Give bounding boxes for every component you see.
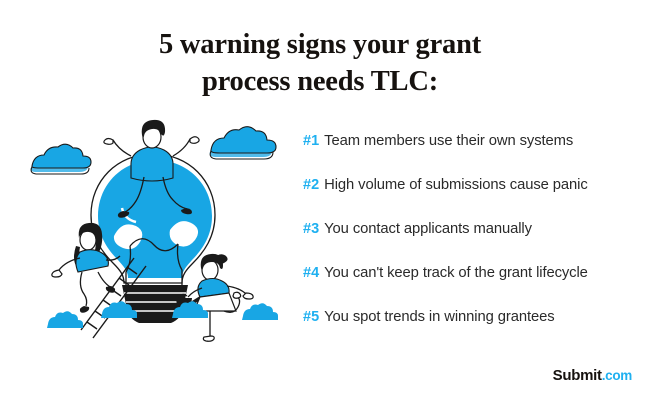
bush-right-icon (242, 303, 278, 320)
list-item: #5 You spot trends in winning grantees (303, 307, 643, 351)
list-item-number: #3 (303, 219, 319, 239)
list-item: #4 You can't keep track of the grant lif… (303, 263, 643, 307)
logo-wordmark: Submit (553, 367, 602, 384)
list-item: #1 Team members use their own systems (303, 131, 643, 175)
list-item: #2 High volume of submissions cause pani… (303, 175, 643, 219)
lightbulb-teamwork-illustration (18, 118, 288, 350)
poster-canvas: 5 warning signs your grant process needs… (0, 0, 650, 400)
submit-com-logo[interactable]: Submit .com (553, 367, 632, 384)
list-item: #3 You contact applicants manually (303, 219, 643, 263)
warning-signs-list: #1 Team members use their own systems #2… (303, 131, 643, 351)
bush-left-icon (47, 311, 83, 328)
list-item-label: High volume of submissions cause panic (324, 175, 588, 195)
page-title-line-1: 5 warning signs your grant (60, 26, 580, 63)
logo-tld: .com (602, 368, 632, 383)
cloud-left-icon (31, 144, 91, 174)
page-title: 5 warning signs your grant process needs… (60, 26, 580, 100)
list-item-label: Team members use their own systems (324, 131, 573, 151)
cloud-right-icon (210, 127, 276, 159)
list-item-label: You spot trends in winning grantees (324, 307, 554, 327)
page-title-line-2: process needs TLC: (60, 63, 580, 100)
list-item-number: #2 (303, 175, 319, 195)
list-item-label: You can't keep track of the grant lifecy… (324, 263, 588, 283)
list-item-label: You contact applicants manually (324, 219, 532, 239)
person-watering (176, 254, 253, 341)
list-item-number: #1 (303, 131, 319, 151)
list-item-number: #4 (303, 263, 319, 283)
list-item-number: #5 (303, 307, 319, 327)
